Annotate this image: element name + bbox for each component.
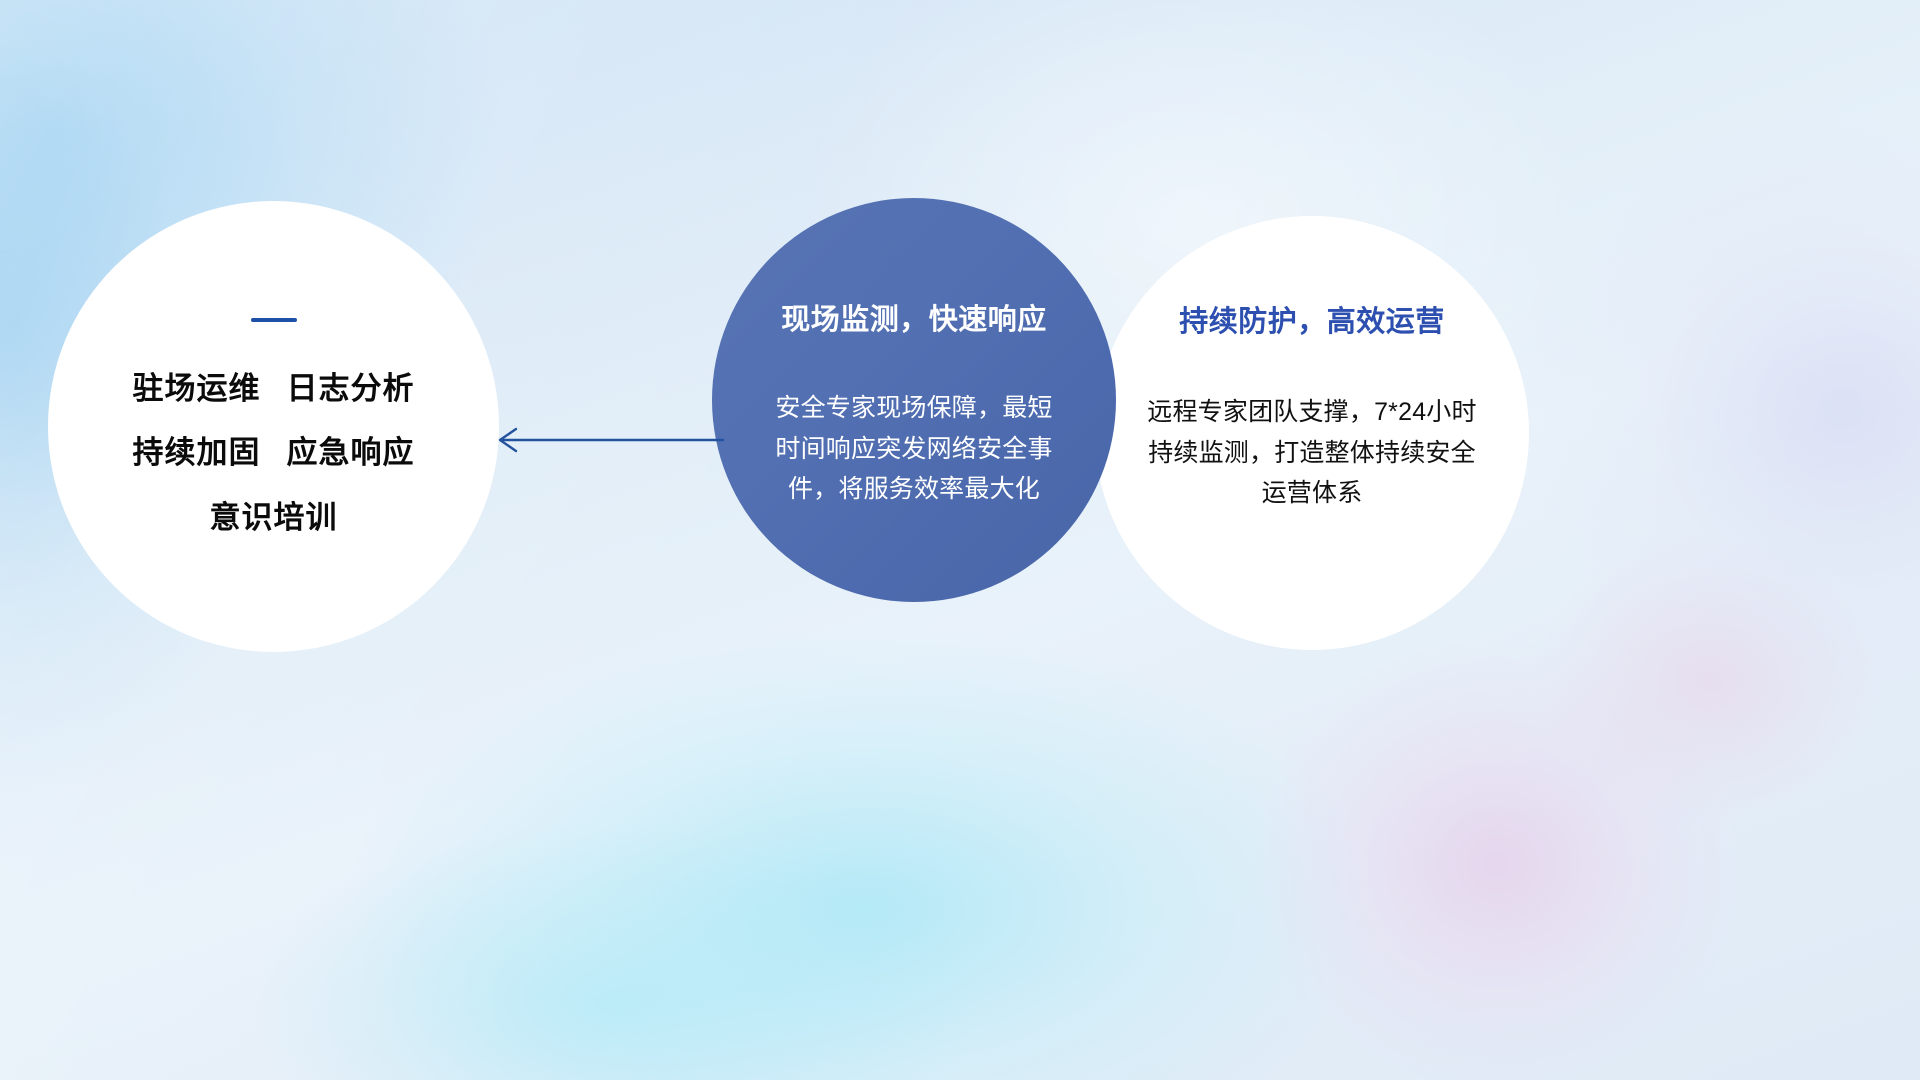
middle-monitoring-circle: 现场监测，快速响应 安全专家现场保障，最短时间响应突发网络安全事件，将服务效率最… (712, 198, 1116, 602)
left-capability-circle: 驻场运维日志分析 持续加固应急响应 意识培训 (48, 201, 499, 652)
right-protection-circle: 持续防护，高效运营 远程专家团队支撑，7*24小时持续监测，打造整体持续安全运营… (1095, 216, 1529, 650)
capability-item-4: 应急响应 (287, 435, 415, 470)
capability-row-2: 持续加固应急响应 (133, 436, 415, 470)
slide-canvas: 驻场运维日志分析 持续加固应急响应 意识培训 持续防护，高效运营 远程专家团队支… (0, 0, 1920, 1080)
capability-item-3: 持续加固 (133, 435, 261, 470)
divider-line (251, 318, 297, 322)
connector-arrow (486, 414, 726, 466)
middle-circle-title: 现场监测，快速响应 (781, 296, 1047, 338)
capability-list: 驻场运维日志分析 持续加固应急响应 意识培训 (133, 372, 415, 534)
capability-row-3: 意识培训 (210, 501, 338, 535)
right-circle-title: 持续防护，高效运营 (1179, 298, 1445, 340)
right-circle-body: 远程专家团队支撑，7*24小时持续监测，打造整体持续安全运营体系 (1136, 392, 1488, 514)
capability-item-1: 驻场运维 (133, 371, 261, 406)
capability-item-2: 日志分析 (287, 371, 415, 406)
middle-circle-body: 安全专家现场保障，最短时间响应突发网络安全事件，将服务效率最大化 (774, 388, 1054, 510)
capability-row-1: 驻场运维日志分析 (133, 372, 415, 406)
capability-item-5: 意识培训 (210, 500, 338, 535)
